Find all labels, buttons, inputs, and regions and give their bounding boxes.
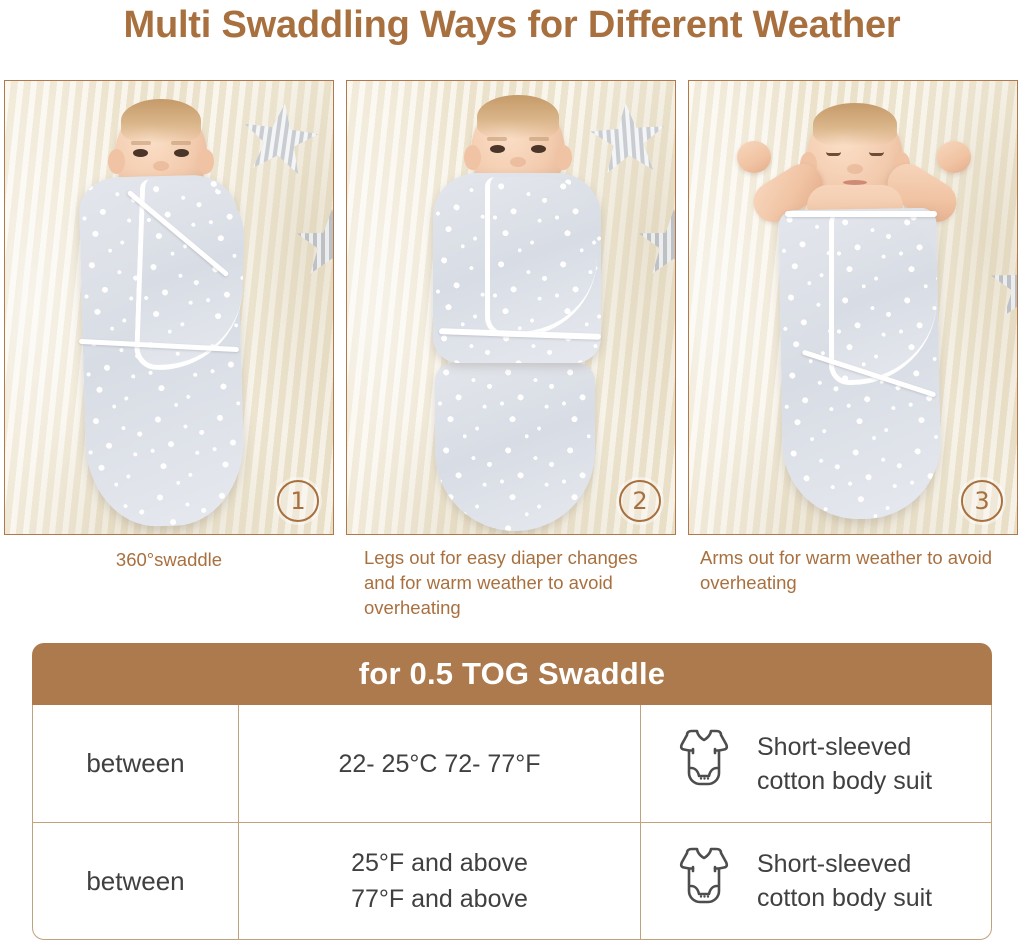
caption-step-1: 360°swaddle [4, 545, 334, 620]
cell-condition: between [33, 705, 239, 822]
tog-table-body: between 22- 25°C 72- 77°F [32, 705, 992, 940]
baby-hair [813, 103, 897, 146]
swaddle-photo-1: 1 [4, 80, 334, 535]
baby-eye-right [174, 149, 189, 157]
cell-condition: between [33, 823, 239, 939]
caption-row: 360°swaddle Legs out for easy diaper cha… [4, 545, 1020, 620]
page-title: Multi Swaddling Ways for Different Weath… [0, 0, 1024, 48]
swaddle-sack-bottom [435, 363, 595, 531]
cell-temperature: 25°F and above 77°F and above [239, 823, 641, 939]
step-badge-3: 3 [961, 480, 1003, 522]
baby-brow-left [131, 141, 151, 145]
baby-eye-right [869, 152, 884, 156]
cell-garment: Short-sleeved cotton body suit [641, 705, 991, 822]
table-row: between 25°F and above 77°F and above [33, 822, 991, 939]
cell-temperature: 22- 25°C 72- 77°F [239, 705, 641, 822]
infographic-page: Multi Swaddling Ways for Different Weath… [0, 0, 1024, 951]
caption-step-2: Legs out for easy diaper changes and for… [346, 545, 676, 620]
baby-ear-left [108, 149, 125, 174]
baby-hair [121, 99, 202, 143]
step-badge-1: 1 [277, 480, 319, 522]
tog-table-header: for 0.5 TOG Swaddle [32, 643, 992, 705]
baby-nose [847, 164, 863, 174]
swaddle-photo-2: 2 [346, 80, 676, 535]
tog-temperature-table: for 0.5 TOG Swaddle between 22- 25°C 72-… [32, 643, 992, 939]
baby-ear-right [555, 145, 572, 170]
baby-ear-right [197, 149, 214, 174]
cell-garment: Short-sleeved cotton body suit [641, 823, 991, 939]
baby-figure-legs-out [347, 81, 675, 534]
baby-brow-right [529, 137, 549, 141]
baby-hair [477, 95, 560, 139]
baby-mouth [843, 180, 867, 185]
baby-hand-left [737, 141, 771, 173]
baby-nose [510, 157, 526, 167]
garment-label: Short-sleeved cotton body suit [757, 730, 932, 798]
baby-eye-right [531, 145, 546, 153]
baby-nose [153, 161, 169, 171]
table-row: between 22- 25°C 72- 77°F [33, 705, 991, 822]
step-badge-2: 2 [619, 480, 661, 522]
caption-step-3: Arms out for warm weather to avoid overh… [688, 545, 1018, 620]
baby-eye-left [826, 152, 841, 156]
baby-brow-left [487, 137, 507, 141]
swaddle-edge-top [785, 211, 937, 217]
onesie-icon [673, 845, 735, 918]
baby-hand-right [937, 141, 971, 173]
garment-label: Short-sleeved cotton body suit [757, 847, 932, 915]
baby-figure-full-swaddle [5, 81, 333, 534]
baby-brow-right [171, 141, 191, 145]
baby-eye-left [133, 149, 148, 157]
swaddle-photo-row: 1 [4, 80, 1020, 535]
baby-eye-left [490, 145, 505, 153]
baby-figure-arms-out [689, 81, 1017, 534]
onesie-icon [673, 727, 735, 800]
swaddle-photo-3: 3 [688, 80, 1018, 535]
baby-ear-left [464, 145, 481, 170]
